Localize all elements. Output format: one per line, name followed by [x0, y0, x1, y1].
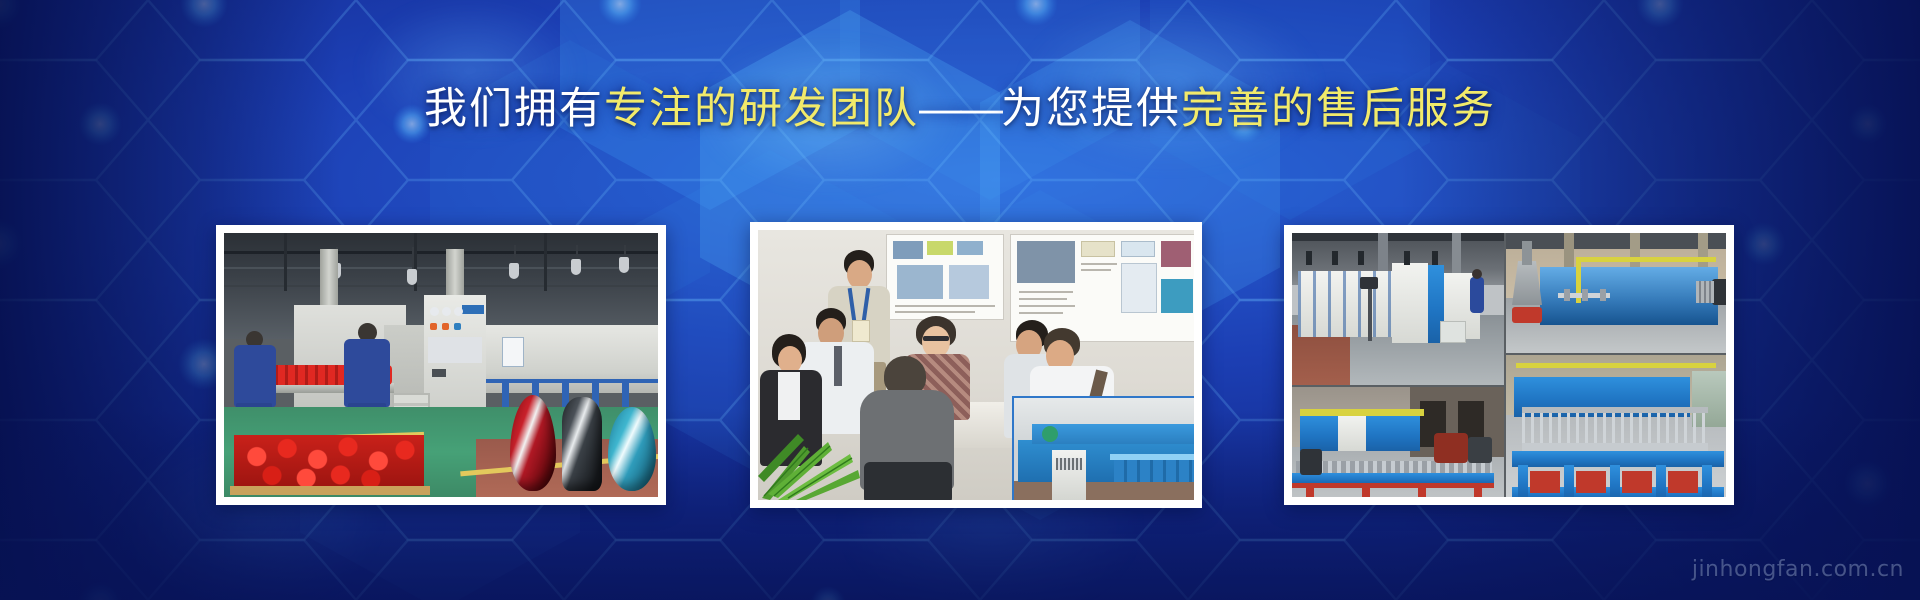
collage-panel-bottom-left	[1292, 387, 1504, 497]
exhaust-stack	[1522, 241, 1532, 265]
poster-text-line	[895, 311, 975, 313]
poster-image	[1161, 279, 1193, 313]
worker-figure	[1470, 277, 1484, 313]
ceiling-fixture	[1432, 251, 1438, 265]
headline-segment-3: 为您提供	[1001, 85, 1181, 133]
oven-control-box	[1338, 415, 1366, 451]
poster-text-line	[895, 305, 995, 307]
inset-wheel	[1042, 426, 1058, 442]
ceiling-beam	[224, 251, 658, 254]
ceiling-fixture	[1306, 251, 1312, 265]
cabinet-label	[462, 305, 484, 314]
worker-head	[1472, 269, 1482, 279]
cabinet-screen	[428, 337, 482, 363]
headline-segment-4: 完善的售后服务	[1181, 85, 1496, 133]
ceiling-fixture	[1404, 251, 1410, 265]
pallet-edge	[230, 486, 430, 495]
photo-equipment-collage	[1292, 233, 1726, 497]
collage-panel-top-right	[1506, 233, 1726, 353]
worker-body	[234, 345, 276, 407]
roller-assembly	[1696, 281, 1714, 303]
burner-valve	[1564, 289, 1570, 301]
oven-base-red	[1512, 307, 1542, 323]
control-cabinet	[1392, 263, 1428, 343]
ceiling-beam	[224, 267, 658, 269]
certificate	[1081, 241, 1115, 257]
ceiling-column	[544, 233, 547, 291]
control-button	[442, 323, 449, 330]
gauge	[430, 307, 439, 316]
frame-red-panel	[1576, 471, 1606, 493]
control-button	[430, 323, 437, 330]
glass-vase-dark	[562, 397, 602, 491]
machine-part-dark	[1468, 437, 1492, 463]
poster-text-line	[1081, 269, 1111, 271]
yellow-canopy-beam	[1300, 409, 1424, 416]
inset-control-grille	[1056, 458, 1082, 470]
ceiling-lamp	[571, 259, 581, 275]
drive-motor	[1300, 449, 1322, 475]
poster-diagram	[949, 265, 989, 299]
frame-red-panel	[1530, 471, 1560, 493]
red-product-pile	[234, 435, 424, 489]
poster-text-line	[1081, 263, 1117, 265]
headline-dash: ——	[919, 85, 1001, 133]
worker-body	[344, 339, 390, 407]
gauge	[442, 307, 451, 316]
poster-text-line	[1019, 305, 1075, 307]
banner-root: 我们拥有专注的研发团队——为您提供完善的售后服务	[0, 0, 1920, 600]
poster-image	[893, 241, 923, 259]
poster-image	[957, 241, 983, 255]
inset-floor	[1014, 481, 1194, 500]
tunnel-rail	[470, 379, 658, 383]
necktie	[834, 346, 842, 386]
poster-text-line	[1019, 291, 1073, 293]
headline-segment-1: 我们拥有	[424, 85, 604, 133]
collage-panel-top-left	[1292, 233, 1504, 385]
lamp-stem	[514, 245, 516, 263]
ceiling-lamp	[619, 257, 629, 273]
poster-image	[1017, 241, 1075, 283]
yellow-gas-pipe	[1516, 363, 1716, 368]
ceiling-beam	[1292, 233, 1504, 241]
machinery-inset-photo	[1012, 396, 1194, 500]
poster-text-line	[1019, 298, 1067, 300]
headline-segment-2: 专注的研发团队	[604, 85, 919, 133]
photo-card-production-line[interactable]	[216, 225, 666, 505]
gauge	[454, 307, 463, 316]
photo-card-team-meeting[interactable]	[750, 222, 1202, 508]
frame-leg	[1702, 465, 1712, 497]
frame-leg	[1518, 465, 1528, 497]
machine-part-red	[1434, 433, 1468, 463]
photo-card-equipment-collage[interactable]	[1284, 225, 1734, 505]
photo-production-line	[224, 233, 658, 497]
burner-valve	[1600, 289, 1606, 301]
poster-diagram	[897, 265, 943, 299]
monitor	[1360, 277, 1378, 289]
collage-panel-bottom-right	[1506, 355, 1726, 497]
frame-leg	[1656, 465, 1666, 497]
notice-sheet	[502, 337, 524, 367]
frame-leg	[1610, 465, 1620, 497]
frame-red-panel	[1622, 471, 1652, 493]
wall-poster	[886, 234, 1004, 320]
end-machine	[1712, 279, 1726, 305]
frame-red-panel	[1668, 471, 1698, 493]
equipment-crate	[1440, 321, 1466, 343]
lamp-stem	[412, 247, 414, 269]
banner-headline: 我们拥有专注的研发团队——为您提供完善的售后服务	[0, 80, 1920, 138]
ceiling-lamp	[407, 269, 417, 285]
poster-text-line	[1019, 312, 1063, 314]
ceiling-lamp	[509, 263, 519, 279]
palm-plant	[758, 390, 878, 500]
ceiling-fixture	[1358, 251, 1364, 265]
inset-chambers	[1114, 460, 1194, 482]
ceiling-beam	[224, 285, 658, 287]
poster-chart	[1121, 263, 1157, 313]
hanger-rail	[1522, 407, 1708, 413]
hanger-base-rail	[1522, 443, 1708, 451]
oven-door-seams	[1298, 271, 1394, 337]
yellow-gas-pipe	[1576, 257, 1716, 262]
cabinet-vent	[432, 369, 446, 377]
site-watermark: jinhongfan.com.cn	[1692, 557, 1904, 582]
ceiling-beam	[1506, 233, 1726, 249]
photo-team-meeting	[758, 230, 1194, 500]
frame-leg	[1564, 465, 1574, 497]
lamp-stem	[576, 245, 578, 259]
person-head	[847, 260, 872, 289]
ceiling-fixture	[1332, 251, 1338, 265]
burner-valve	[1582, 289, 1588, 301]
hanger-row	[1522, 411, 1708, 445]
eyeglasses	[923, 336, 949, 341]
control-button	[454, 323, 461, 330]
poster-image	[1161, 241, 1191, 267]
conveyor-rail	[1292, 483, 1494, 488]
lamp-stem	[624, 245, 626, 257]
certificate	[1121, 241, 1155, 257]
poster-image	[927, 241, 953, 255]
id-badge	[852, 320, 870, 342]
ceiling-column	[284, 233, 287, 291]
